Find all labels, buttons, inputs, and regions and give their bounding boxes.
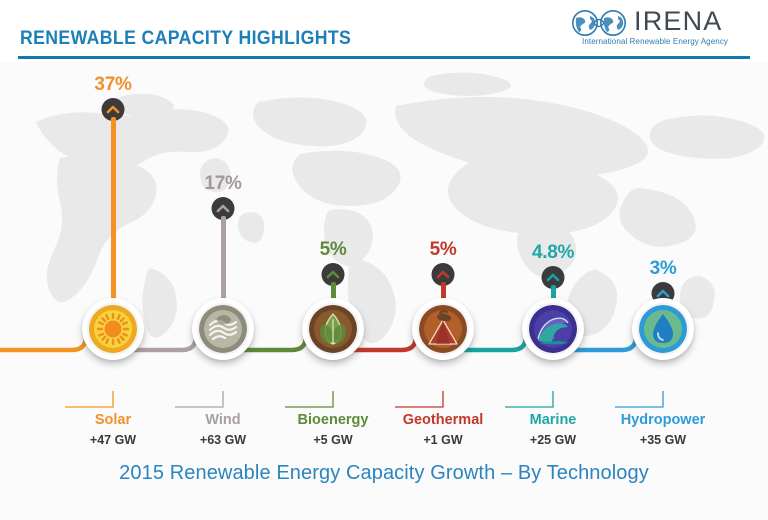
label-geothermal: Geothermal — [403, 412, 484, 428]
percent-label-bioenergy: 5% — [320, 239, 347, 261]
label-solar: Solar — [95, 412, 131, 428]
gw-bioenergy: +5 GW — [313, 433, 352, 447]
percent-label-marine: 4.8% — [532, 242, 574, 264]
wind-waves-icon — [199, 305, 247, 353]
logo-tagline: International Renewable Energy Agency — [582, 37, 728, 46]
gw-hydropower: +35 GW — [640, 433, 686, 447]
chevron-up-icon — [107, 105, 120, 114]
percent-label-solar: 37% — [94, 74, 131, 96]
percent-label-geothermal: 5% — [430, 239, 457, 261]
label-bioenergy: Bioenergy — [298, 412, 369, 428]
percent-label-wind: 17% — [204, 173, 241, 195]
gw-wind: +63 GW — [200, 433, 246, 447]
chevron-up-icon — [217, 204, 230, 213]
percent-label-hydropower: 3% — [650, 258, 677, 280]
irena-logo: IRENA International Renewable Energy Age… — [568, 6, 750, 50]
chart-caption: 2015 Renewable Energy Capacity Growth – … — [0, 462, 768, 485]
chevron-up-icon — [547, 273, 560, 282]
node-marine — [522, 298, 584, 360]
chart-layer: 37% — [0, 62, 768, 520]
chevron-up-icon — [657, 289, 670, 298]
label-wind: Wind — [205, 412, 240, 428]
node-hydropower — [632, 298, 694, 360]
infographic-root: RENEWABLE CAPACITY HIGHLIGHTS — [0, 0, 768, 520]
label-hydropower: Hydropower — [621, 412, 706, 428]
water-drop-icon — [639, 305, 687, 353]
node-wind — [192, 298, 254, 360]
page-title: RENEWABLE CAPACITY HIGHLIGHTS — [20, 28, 351, 50]
sun-icon — [89, 305, 137, 353]
gw-geothermal: +1 GW — [423, 433, 462, 447]
chart-canvas: 37% — [0, 62, 768, 520]
gw-solar: +47 GW — [90, 433, 136, 447]
label-marine: Marine — [530, 412, 577, 428]
leaf-icon — [309, 305, 357, 353]
logo-wordmark: IRENA — [634, 6, 723, 37]
header-divider — [18, 56, 750, 59]
node-solar — [82, 298, 144, 360]
volcano-icon — [419, 305, 467, 353]
bar-solar — [111, 117, 116, 322]
wave-icon — [529, 305, 577, 353]
chevron-up-icon — [327, 270, 340, 279]
node-bioenergy — [302, 298, 364, 360]
gw-marine: +25 GW — [530, 433, 576, 447]
node-geothermal — [412, 298, 474, 360]
chevron-up-icon — [437, 270, 450, 279]
header: RENEWABLE CAPACITY HIGHLIGHTS — [0, 0, 768, 62]
